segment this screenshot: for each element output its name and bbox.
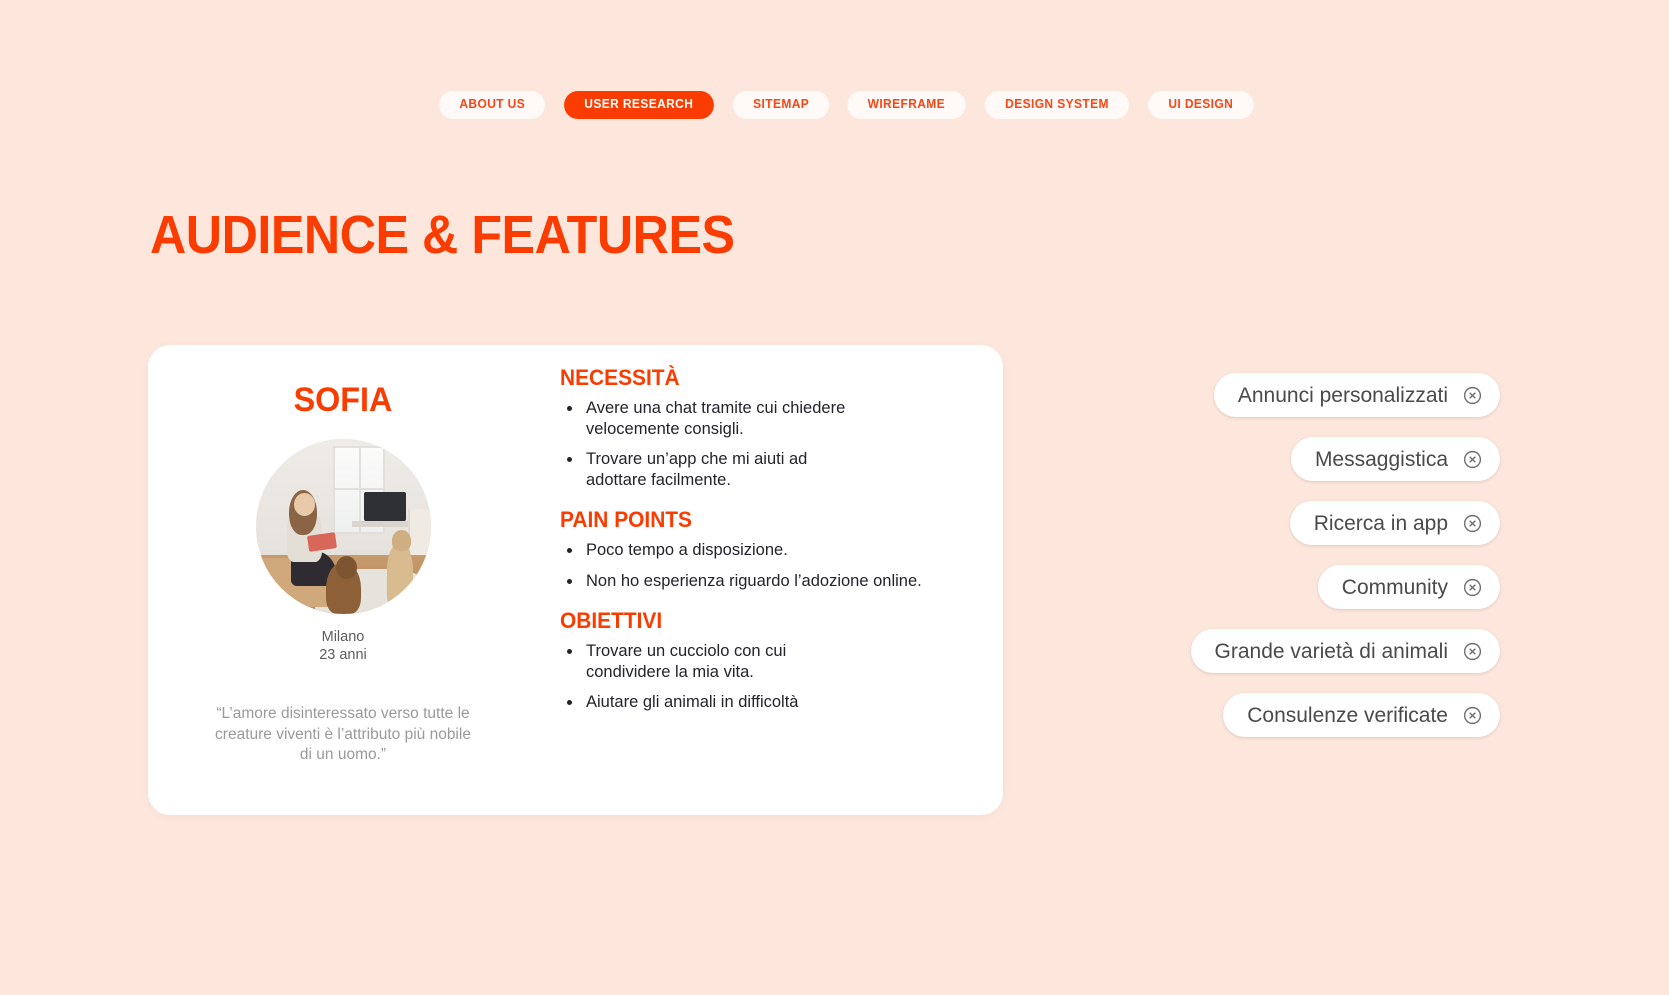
chip-label: Messaggistica [1315,449,1448,470]
feature-chip-ricerca-in-app[interactable]: Ricerca in app [1290,501,1500,545]
close-circle-icon[interactable] [1462,513,1483,534]
feature-chip-annunci-personalizzati[interactable]: Annunci personalizzati [1214,373,1500,417]
feature-chip-list: Annunci personalizzati Messaggistica Ric… [1130,373,1500,737]
close-circle-icon[interactable] [1462,705,1483,726]
close-circle-icon[interactable] [1462,385,1483,406]
feature-chip-grande-varieta-di-animali[interactable]: Grande varietà di animali [1191,629,1500,673]
nav-item-sitemap[interactable]: SITEMAP [733,91,829,119]
persona-age: 23 anni [319,647,367,665]
section-heading-obiettivi: OBIETTIVI [560,610,956,632]
nav-item-design-system[interactable]: DESIGN SYSTEM [985,91,1129,119]
persona-profile: SOFIA Milano 23 anni “L’amore disin [148,345,538,815]
necessita-list: Avere una chat tramite cui chiedere velo… [560,398,977,491]
persona-city: Milano [319,629,367,647]
chip-label: Ricerca in app [1314,513,1448,534]
persona-meta: Milano 23 anni [319,629,367,664]
nav-item-wireframe[interactable]: WIREFRAME [848,91,966,119]
feature-chip-messaggistica[interactable]: Messaggistica [1291,437,1500,481]
section-heading-necessita: NECESSITÀ [560,367,956,389]
list-item: Trovare un cucciolo con cui condividere … [560,641,865,683]
chip-label: Consulenze verificate [1247,705,1448,726]
list-item: Non ho esperienza riguardo l’adozione on… [560,571,977,592]
persona-name: SOFIA [294,383,393,417]
photo-book [307,532,337,551]
page-title: AUDIENCE & FEATURES [150,208,735,262]
obiettivi-list: Trovare un cucciolo con cui condividere … [560,641,977,713]
close-circle-icon[interactable] [1462,449,1483,470]
photo-desk [352,521,412,526]
photo-dog-light [387,544,413,611]
persona-photo [256,439,431,614]
nav-item-user-research[interactable]: USER RESEARCH [565,91,714,119]
pain-points-list: Poco tempo a disposizione. Non ho esperi… [560,540,977,591]
photo-person-head [294,493,315,516]
feature-chip-consulenze-verificate[interactable]: Consulenze verificate [1223,693,1500,737]
section-heading-pain-points: PAIN POINTS [560,509,956,531]
photo-dog-light-head [392,530,411,551]
list-item: Trovare un’app che mi aiuti ad adottare … [560,449,865,491]
persona-quote: “L’amore disinteressato verso tutte le c… [209,704,477,764]
photo-dog-dark-head [336,556,357,579]
chip-label: Grande varietà di animali [1215,641,1448,662]
photo-monitor [364,492,406,522]
list-item: Aiutare gli animali in difficoltà [560,692,977,713]
list-item: Avere una chat tramite cui chiedere velo… [560,398,865,440]
chip-label: Annunci personalizzati [1238,385,1448,406]
chip-label: Community [1342,577,1448,598]
persona-details: NECESSITÀ Avere una chat tramite cui chi… [538,345,1003,815]
close-circle-icon[interactable] [1462,577,1483,598]
nav-item-ui-design[interactable]: UI DESIGN [1148,91,1253,119]
feature-chip-community[interactable]: Community [1318,565,1500,609]
persona-card: SOFIA Milano 23 anni “L’amore disin [148,345,1003,815]
main-nav: ABOUT US USER RESEARCH SITEMAP WIREFRAME… [437,91,1256,119]
nav-item-about-us[interactable]: ABOUT US [439,91,545,119]
close-circle-icon[interactable] [1462,641,1483,662]
list-item: Poco tempo a disposizione. [560,540,977,561]
